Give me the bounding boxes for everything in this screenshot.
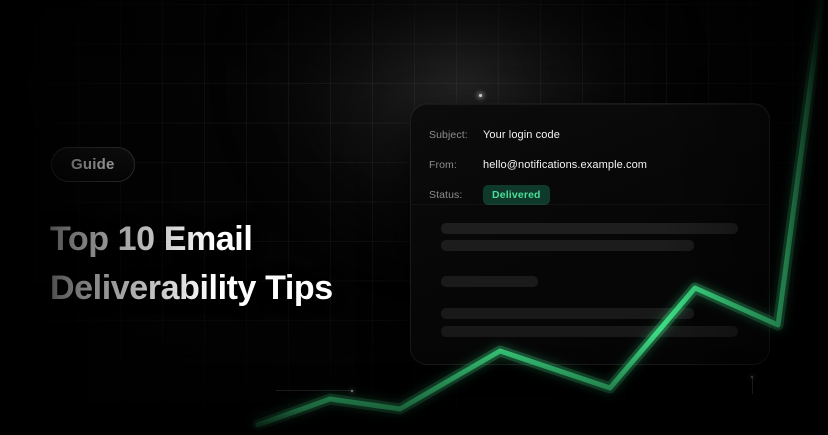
vignette-overlay bbox=[0, 0, 828, 435]
hero-banner: Guide Top 10 Email Deliverability Tips S… bbox=[0, 0, 828, 435]
